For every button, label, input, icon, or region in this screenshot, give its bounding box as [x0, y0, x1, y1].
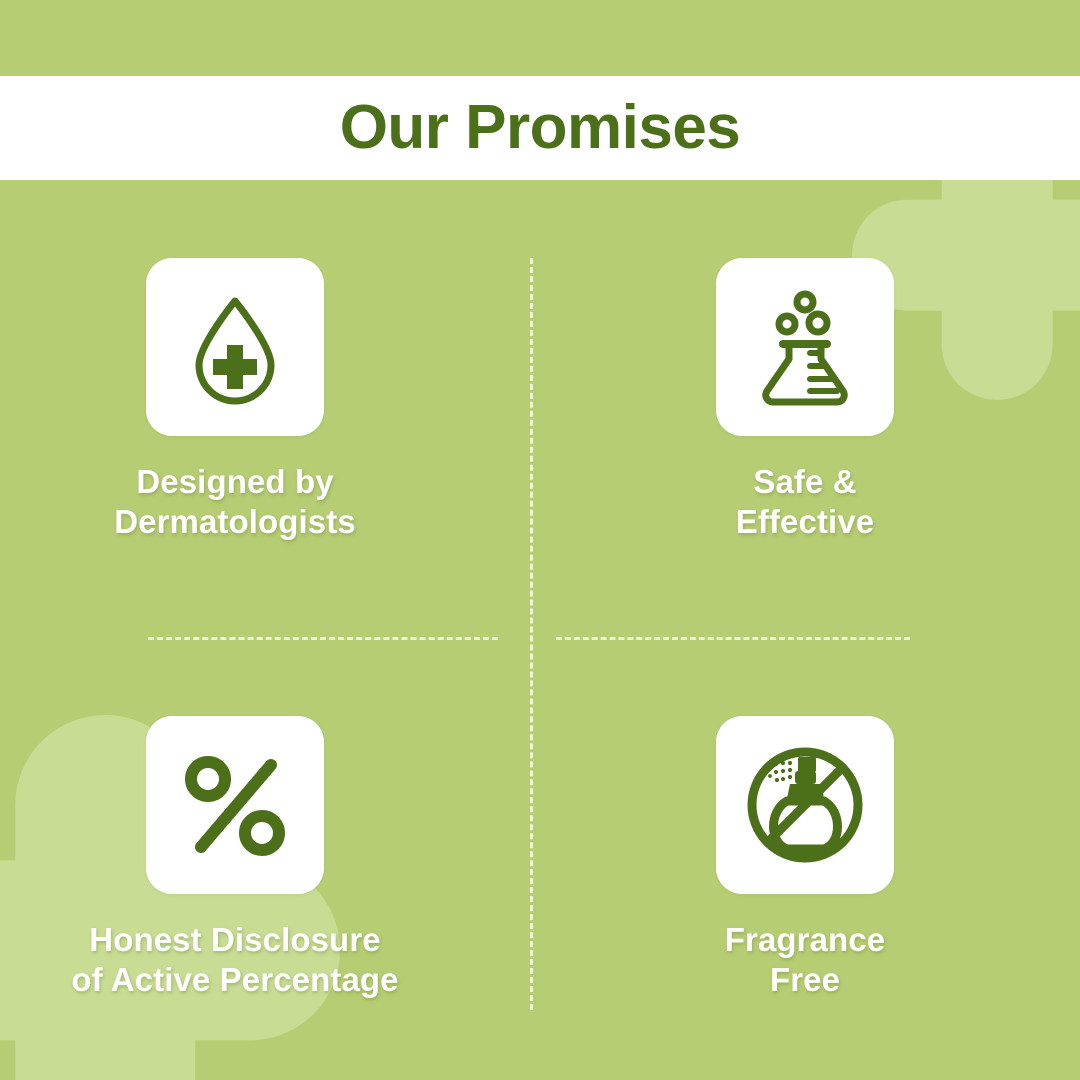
promise-icon-card [146, 716, 324, 894]
no-fragrance-icon [745, 745, 865, 865]
header-band: Our Promises [0, 76, 1080, 180]
page-title: Our Promises [340, 97, 741, 159]
promise-icon-card [716, 716, 894, 894]
droplet-plus-icon [175, 287, 295, 407]
promise-label: Honest Disclosure of Active Percentage [71, 920, 398, 999]
promise-grid: Designed by Dermatologists [0, 180, 1080, 1080]
promise-item-designed-by-dermatologists: Designed by Dermatologists [0, 180, 540, 630]
promise-label: Designed by Dermatologists [114, 462, 356, 541]
promise-item-honest-disclosure: Honest Disclosure of Active Percentage [0, 630, 540, 1080]
promises-panel: Our Promises Designed by Dermatologists [0, 0, 1080, 1080]
promise-label: Fragrance Free [725, 920, 885, 999]
promise-icon-card [716, 258, 894, 436]
promise-icon-card [146, 258, 324, 436]
flask-icon [745, 287, 865, 407]
percent-icon [175, 745, 295, 865]
promise-item-safe-and-effective: Safe & Effective [540, 180, 1080, 630]
promise-item-fragrance-free: Fragrance Free [540, 630, 1080, 1080]
promise-label: Safe & Effective [736, 462, 874, 541]
